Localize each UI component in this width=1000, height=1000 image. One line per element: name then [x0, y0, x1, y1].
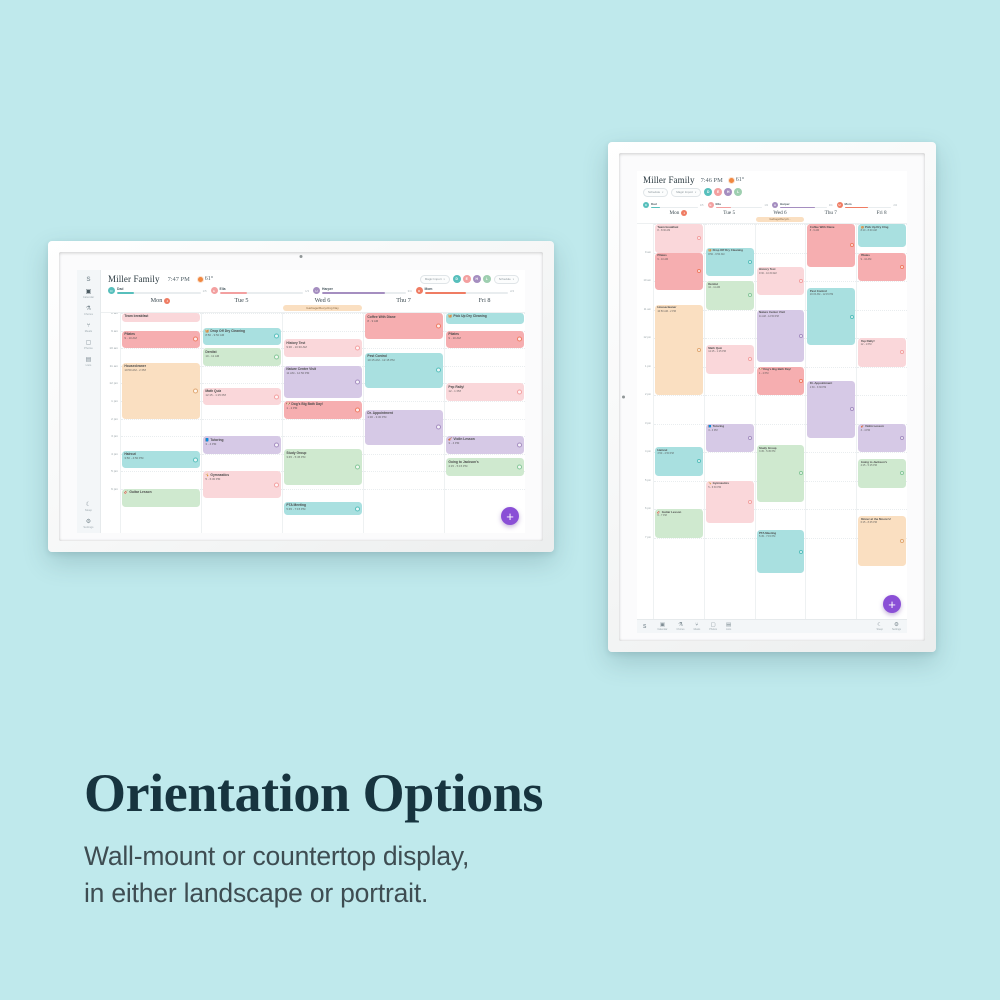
member-name: Dad	[651, 202, 698, 207]
event-time: 5 - 6:30 PM	[708, 486, 751, 489]
event-time: 8:50 - 9:50 AM	[708, 253, 751, 256]
time-label: 6 pm	[111, 487, 118, 491]
grid-hour-line	[705, 224, 755, 225]
calendar-event[interactable]: Math Quiz12:15 - 1:15 PM	[203, 388, 281, 406]
calendar-event[interactable]: Going to Jackson's4:15 - 5:15 PM	[858, 459, 906, 488]
day-header-label: Tue 5	[723, 210, 735, 216]
event-owner-avatar	[748, 500, 752, 504]
member-progress[interactable]: MMom2/4	[837, 202, 902, 209]
member-body: Mom	[425, 287, 509, 294]
calendar-event[interactable]: Coffee With Diane8 - 9 AM	[365, 313, 443, 339]
member-progress[interactable]: DDad1/5	[108, 287, 211, 294]
grid-hour-line	[756, 253, 806, 254]
allday-cell[interactable]	[201, 305, 282, 312]
landscape-device-frame: S ▣ Calendar ⚗ Chores ⑂ Meals	[48, 241, 554, 552]
sidebar-item-label: Photos	[84, 347, 93, 350]
portrait-calendar-grid[interactable]: 8 am9 am10 am11 am12 pm1 pm2 pm3 pm4 pm5…	[637, 224, 907, 619]
sidebar-item-settings[interactable]: ⚙ Settings	[77, 519, 100, 529]
sun-icon	[198, 277, 203, 282]
sidebar-item-label: Chores	[84, 313, 93, 316]
day-header[interactable]: Mon4	[120, 297, 201, 305]
calendar-event[interactable]: 📘 Tutoring3 - 4 PM	[706, 424, 754, 453]
member-progress-fill	[117, 292, 134, 294]
member-body: Dad	[651, 202, 698, 209]
grid-hour-line	[121, 348, 201, 349]
event-time: 10:50 AM - 2 PM	[657, 310, 700, 313]
event-time: 10 - 11 AM	[205, 354, 278, 358]
portrait-day-headers: Mon4Tue 5Wed 6Thu 7Fri 8	[637, 210, 907, 217]
grid-hour-line	[857, 367, 907, 368]
event-owner-avatar	[748, 357, 752, 361]
grid-hour-line	[445, 454, 525, 455]
calendar-event[interactable]: 🎸 Guitar Lesson	[122, 489, 200, 507]
time-label: 5 pm	[111, 469, 118, 473]
grid-hour-line	[806, 481, 856, 482]
event-owner-avatar	[799, 550, 803, 554]
grid-hour-line	[654, 538, 704, 539]
calendar-event[interactable]: 🤸 Gymnastics5 - 6:30 PM	[706, 481, 754, 524]
avatar: H	[772, 202, 778, 208]
landscape-sidebar: S ▣ Calendar ⚗ Chores ⑂ Meals	[77, 270, 101, 533]
time-label: 10 am	[109, 346, 118, 350]
calendar-event[interactable]: Pilates9 - 10 AM	[655, 253, 703, 290]
landscape-time-axis: 8 am9 am10 am11 am12 pm1 pm2 pm3 pm4 pm5…	[101, 313, 120, 533]
event-time: 12:15 - 1:15 PM	[708, 350, 751, 353]
allday-cell[interactable]: Garbage/Recycling Day	[282, 305, 363, 312]
landscape-topbar: Miller Family 7:47 PM 61° Magic Import ▾	[101, 270, 525, 286]
landscape-camera-dot	[300, 255, 303, 258]
grid-hour-line	[121, 471, 201, 472]
allday-cell[interactable]	[856, 217, 907, 223]
weather: 61°	[729, 177, 744, 183]
allday-cell[interactable]	[805, 217, 856, 223]
nav-item-label: Meals	[694, 628, 701, 631]
calendar-event[interactable]: Study Group3:45 - 5:45 PM	[757, 445, 805, 502]
allday-cell[interactable]	[704, 217, 755, 223]
schedule-view-selector[interactable]: Schedule ▾	[494, 275, 519, 284]
landscape-member-progress-row: DDad1/5EElla1/3HHarper3/4MMom2/4	[101, 286, 525, 297]
grid-hour-line	[654, 395, 704, 396]
avatar[interactable]: H	[724, 188, 732, 196]
calendar-event[interactable]: Pest Control10:15 AM - 12:15 PM	[807, 288, 855, 345]
calendar-event[interactable]: History Test9:30 - 10:30 AM	[757, 267, 805, 296]
grid-hour-line	[806, 452, 856, 453]
calendar-event[interactable]: 🎻 Violin Lesson3 - 4 PM	[858, 424, 906, 453]
calendar-event[interactable]: Dr. Appointment1:30 - 3:30 PM	[807, 381, 855, 438]
day-header-label: Fri 8	[479, 297, 491, 304]
day-header[interactable]: Tue 5	[201, 297, 282, 305]
time-label: 12 pm	[644, 336, 651, 339]
magic-import-label: Magic Import	[676, 190, 693, 194]
event-owner-avatar	[274, 442, 279, 447]
calendar-event[interactable]: Going to Jackson's4:15 - 5:15 PM	[446, 458, 524, 476]
avatar-group: D E H L	[704, 188, 742, 196]
grid-hour-line	[283, 419, 363, 420]
sidebar-item-photos[interactable]: ▢ Photos	[77, 340, 100, 350]
photos-icon: ▢	[86, 340, 92, 346]
member-count: 2/4	[510, 289, 514, 294]
landscape-calendar-grid[interactable]: 8 am9 am10 am11 am12 pm1 pm2 pm3 pm4 pm5…	[101, 313, 525, 533]
grid-hour-line	[202, 383, 282, 384]
grid-hour-line	[445, 489, 525, 490]
member-progress-track	[651, 207, 698, 209]
calendar-icon: ▣	[86, 289, 92, 295]
grid-hour-line	[202, 366, 282, 367]
calendar-event[interactable]: Pep Rally!12 - 1 PM	[858, 338, 906, 367]
grid-hour-line	[705, 452, 755, 453]
day-column-fri[interactable]: 🧺 Pick Up Dry CleaningPilates9 - 10 AMPe…	[444, 313, 525, 533]
meals-icon: ⑂	[695, 622, 698, 628]
allday-event[interactable]: Garbage/Recycli...	[756, 217, 805, 222]
schedule-view-selector[interactable]: Schedule ▾	[643, 188, 668, 197]
grid-hour-line	[705, 538, 755, 539]
calendar-event[interactable]: Nature Center Visit11 AM - 12:50 PM	[284, 366, 362, 398]
member-progress[interactable]: HHarper3/4	[313, 287, 416, 294]
day-header[interactable]: Tue 5	[704, 210, 755, 217]
gear-icon: ⚙	[894, 622, 899, 628]
magic-import-button[interactable]: Magic Import ▾	[420, 275, 450, 284]
grid-hour-line	[283, 313, 363, 314]
calendar-event[interactable]: History Test9:30 - 10:30 AM	[284, 339, 362, 357]
event-owner-avatar	[274, 354, 279, 359]
time-label: 9 am	[645, 251, 651, 254]
portrait-screen-bezel: Miller Family 7:46 PM 61° Schedule ▾	[619, 153, 925, 641]
time-label: 9 am	[111, 329, 118, 333]
calendar-event[interactable]: Dentist10 - 11 AM	[706, 281, 754, 310]
portrait-grid-inner: 8 am9 am10 am11 am12 pm1 pm2 pm3 pm4 pm5…	[637, 224, 907, 619]
nav-item-meals[interactable]: ⑂ Meals	[694, 622, 701, 632]
event-time: 10:15 AM - 12:15 PM	[367, 358, 440, 362]
grid-hour-line	[445, 348, 525, 349]
portrait-app: Miller Family 7:46 PM 61° Schedule ▾	[637, 171, 907, 633]
member-progress[interactable]: EElla1/3	[211, 287, 314, 294]
event-owner-avatar	[355, 379, 360, 384]
portrait-topbar: Miller Family 7:46 PM 61° Schedule ▾	[637, 171, 907, 199]
grid-hour-line	[121, 419, 201, 420]
calendar-event[interactable]: Team breakfast	[122, 313, 200, 322]
photos-icon: ▢	[711, 622, 716, 628]
calendar-event[interactable]: Pilates9 - 10 AM	[858, 253, 906, 282]
member-progress-fill	[716, 207, 731, 209]
time-label: 3 pm	[111, 434, 118, 438]
landscape-allday-row: Garbage/Recycling Day	[101, 305, 525, 313]
event-time: 8 - 9 AM	[810, 229, 853, 232]
event-time: 3 - 4 PM	[448, 441, 521, 445]
grid-hour-line	[202, 419, 282, 420]
event-title: Team breakfast	[124, 314, 197, 318]
calendar-event[interactable]: 🐶 Dog's Big Bath Day!1 - 2 PM	[757, 367, 805, 396]
calendar-event[interactable]: 🧺 Pick Up Dry Cleaning	[446, 313, 524, 324]
day-column-tue[interactable]: 🧺 Drop Off Dry Cleaning8:50 - 9:50 AMDen…	[704, 224, 755, 619]
chores-icon: ⚗	[678, 622, 683, 628]
event-time: 1 - 2 PM	[759, 372, 802, 375]
landscape-screen-bezel: S ▣ Calendar ⚗ Chores ⑂ Meals	[59, 252, 543, 541]
calendar-event[interactable]: 🎸 Guitar Lesson6 - 7 PM	[655, 509, 703, 538]
sidebar-item-chores[interactable]: ⚗ Chores	[77, 306, 100, 316]
member-progress[interactable]: EElla1/3	[708, 202, 773, 209]
lists-icon: ▤	[86, 357, 92, 363]
grid-hour-line	[202, 454, 282, 455]
event-owner-avatar	[355, 407, 360, 412]
event-owner-avatar	[436, 368, 441, 373]
calendar-event[interactable]: 🎻 Violin Lesson3 - 4 PM	[446, 436, 524, 454]
landscape-screen: S ▣ Calendar ⚗ Chores ⑂ Meals	[77, 270, 525, 533]
event-time: 3:50 - 4:50 PM	[124, 456, 197, 460]
event-time: 3 - 4 PM	[861, 429, 904, 432]
time-label: 7 pm	[645, 536, 651, 539]
day-header[interactable]: Thu 7	[805, 210, 856, 217]
time-label: 1 pm	[111, 399, 118, 403]
day-header[interactable]: Fri 8	[444, 297, 525, 305]
event-owner-avatar	[697, 459, 701, 463]
member-progress-track	[425, 292, 509, 294]
member-body: Ella	[716, 202, 763, 209]
calendar-event[interactable]: 🧺 Pick Up Dry Clng8:10 - 8:40 AM	[858, 224, 906, 247]
day-column-wed[interactable]: History Test9:30 - 10:30 AMNature Center…	[755, 224, 806, 619]
calendar-event[interactable]: Study Group3:45 - 5:45 PM	[284, 449, 362, 484]
allday-cell[interactable]	[653, 217, 704, 223]
avatar[interactable]: E	[463, 275, 471, 283]
event-time: 12 - 1 PM	[448, 389, 521, 393]
event-time: 4:15 - 5:15 PM	[861, 464, 904, 467]
event-owner-avatar	[748, 293, 752, 297]
event-time: 12 - 1 PM	[861, 343, 904, 346]
calendar-event[interactable]: Haircut3:50 - 4:50 PM	[122, 451, 200, 469]
sidebar-item-lists[interactable]: ▤ Lists	[77, 357, 100, 367]
add-event-fab[interactable]: +	[883, 595, 901, 613]
magic-import-button[interactable]: Magic Import ▾	[671, 188, 701, 197]
portrait-camera-dot	[622, 396, 625, 399]
time-label: 4 pm	[111, 452, 118, 456]
calendar-event[interactable]: Dentist10 - 11 AM	[203, 348, 281, 366]
event-owner-avatar	[850, 315, 854, 319]
schedule-label: Schedule	[648, 190, 660, 194]
event-time: 3 - 4 PM	[205, 442, 278, 446]
temperature: 61°	[736, 177, 744, 183]
nav-item-photos[interactable]: ▢ Photos	[709, 622, 717, 632]
member-progress-fill	[651, 207, 660, 209]
event-time: 12:15 - 1:15 PM	[205, 393, 278, 397]
member-name: Harper	[780, 202, 827, 207]
calendar-event[interactable]: 🧺 Drop Off Dry Cleaning8:50 - 9:50 AM	[706, 248, 754, 277]
grid-hour-line	[756, 224, 806, 225]
portrait-bottom-nav: S ▣ Calendar ⚗ Chores ⑂ Meals	[637, 619, 907, 633]
event-owner-avatar	[697, 348, 701, 352]
calendar-event[interactable]: Pest Control10:15 AM - 12:15 PM	[365, 353, 443, 388]
app-logo[interactable]: S	[643, 624, 646, 630]
event-owner-avatar	[799, 334, 803, 338]
time-label: 11 am	[110, 364, 118, 368]
event-time: 10:50 AM - 2 PM	[124, 368, 197, 372]
event-owner-avatar	[274, 482, 279, 487]
allday-cell[interactable]	[444, 305, 525, 312]
event-time: 8 - 8:30 AM	[657, 229, 700, 232]
calendar-event[interactable]: Pep Rally!12 - 1 PM	[446, 383, 524, 401]
allday-cell[interactable]	[120, 305, 201, 312]
day-header[interactable]: Wed 6	[755, 210, 806, 217]
avatar[interactable]: E	[714, 188, 722, 196]
calendar-event[interactable]: Housecleaner10:50 AM - 2 PM	[655, 305, 703, 395]
event-owner-avatar	[900, 350, 904, 354]
member-progress-fill	[780, 207, 815, 209]
sidebar-item-sleep[interactable]: ☾ Sleep	[77, 502, 100, 512]
member-count: 1/5	[203, 289, 207, 294]
grid-hour-line	[705, 310, 755, 311]
nav-item-calendar[interactable]: ▣ Calendar	[657, 622, 667, 632]
grid-hour-line	[756, 509, 806, 510]
chevron-down-icon: ▾	[513, 278, 514, 281]
day-column-tue[interactable]: 🧺 Drop Off Dry Cleaning8:50 - 9:50 AMDen…	[201, 313, 282, 533]
portrait-member-progress-row: DDad1/5EElla1/3HHarper3/4MMom2/4	[637, 199, 907, 211]
event-time: 8:50 - 9:50 AM	[205, 333, 278, 337]
event-owner-avatar	[517, 464, 522, 469]
day-column-mon[interactable]: Team breakfastPilates9 - 10 AMHouseclean…	[120, 313, 201, 533]
calendar-event[interactable]: 📘 Tutoring3 - 4 PM	[203, 436, 281, 454]
event-owner-avatar	[900, 436, 904, 440]
calendar-event[interactable]: Coffee With Diane8 - 9 AM	[807, 224, 855, 267]
member-count: 1/3	[764, 204, 768, 208]
event-owner-avatar	[355, 506, 360, 511]
day-header-label: Thu 7	[825, 210, 837, 216]
meals-icon: ⑂	[87, 323, 91, 329]
event-owner-avatar	[517, 390, 522, 395]
grid-hour-line	[756, 424, 806, 425]
day-header[interactable]: Fri 8	[856, 210, 907, 217]
calendar-event[interactable]: Math Quiz12:15 - 1:15 PM	[706, 345, 754, 374]
event-title: 🎸 Guitar Lesson	[124, 490, 197, 494]
member-progress-track	[117, 292, 201, 294]
chevron-down-icon: ▾	[662, 191, 663, 194]
event-owner-avatar	[274, 394, 279, 399]
calendar-event[interactable]: PTA Meeting5:45 - 7:15 PM	[284, 502, 362, 515]
calendar-event[interactable]: 🐶 Dog's Big Bath Day!1 - 2 PM	[284, 401, 362, 419]
grid-hour-line	[283, 489, 363, 490]
nav-item-sleep[interactable]: ☾ Sleep	[877, 622, 883, 632]
sidebar-item-meals[interactable]: ⑂ Meals	[77, 323, 100, 333]
calendar-event[interactable]: Housecleaner10:50 AM - 2 PM	[122, 363, 200, 419]
app-logo[interactable]: S	[86, 277, 90, 283]
avatar: M	[837, 202, 843, 208]
day-header[interactable]: Wed 6	[282, 297, 363, 305]
event-owner-avatar	[697, 269, 701, 273]
nav-item-label: Sleep	[877, 628, 883, 631]
calendar-event[interactable]: 🤸 Gymnastics5 - 6:30 PM	[203, 471, 281, 497]
calendar-event[interactable]: Dr. Appointment1:30 - 3:30 PM	[365, 410, 443, 445]
grid-hour-line	[806, 367, 856, 368]
event-owner-avatar	[274, 334, 279, 339]
avatar[interactable]: L	[734, 188, 742, 196]
nav-item-lists[interactable]: ▤ Lists	[726, 622, 731, 632]
member-progress[interactable]: HHarper3/4	[772, 202, 837, 209]
calendar-event[interactable]: Nature Center Visit11 AM - 12:50 PM	[757, 310, 805, 362]
day-column-wed[interactable]: History Test9:30 - 10:30 AMNature Center…	[282, 313, 363, 533]
member-body: Dad	[117, 287, 201, 294]
avatar[interactable]: D	[453, 275, 461, 283]
calendar-event[interactable]: Team breakfast8 - 8:30 AM	[655, 224, 703, 253]
day-header-label: Tue 5	[234, 297, 248, 304]
event-time: 9 - 10 AM	[861, 258, 904, 261]
event-time: 9:30 - 10:30 AM	[759, 272, 802, 275]
family-name: Miller Family	[643, 175, 695, 185]
grid-hour-line	[121, 436, 201, 437]
portrait-controls-row: Schedule ▾ Magic Import ▾ D E H	[643, 188, 901, 197]
event-time: 1:30 - 3:30 PM	[367, 415, 440, 419]
calendar-event[interactable]: Haircut3:50 - 4:50 PM	[655, 447, 703, 476]
calendar-event[interactable]: Dinner at the Moore's!6:15 - 8:45 PM	[858, 516, 906, 566]
time-label: 5 pm	[645, 479, 651, 482]
day-header[interactable]: Mon4	[653, 210, 704, 217]
grid-hour-line	[364, 489, 444, 490]
day-header-label: Wed 6	[773, 210, 786, 216]
portrait-title-row: Miller Family 7:46 PM 61°	[643, 175, 901, 185]
member-count: 3/4	[408, 289, 412, 294]
avatar[interactable]: H	[473, 275, 481, 283]
day-event-count-badge: 4	[681, 210, 687, 216]
event-time: 3:45 - 5:45 PM	[759, 450, 802, 453]
allday-cell[interactable]: Garbage/Recycli...	[755, 217, 806, 223]
calendar-event[interactable]: Pilates9 - 10 AM	[446, 331, 524, 349]
portrait-screen: Miller Family 7:46 PM 61° Schedule ▾	[637, 171, 907, 633]
sidebar-item-label: Settings	[83, 526, 93, 529]
day-column-fri[interactable]: 🧺 Pick Up Dry Clng8:10 - 8:40 AMPilates9…	[856, 224, 907, 619]
calendar-event[interactable]: PTA Meeting5:45 - 7:15 PM	[757, 530, 805, 573]
calendar-event[interactable]: Pilates9 - 10 AM	[122, 331, 200, 349]
sidebar-item-label: Calendar	[83, 296, 94, 299]
event-owner-avatar	[900, 265, 904, 269]
nav-item-chores[interactable]: ⚗ Chores	[677, 622, 685, 632]
calendar-icon: ▣	[660, 622, 665, 628]
day-header[interactable]: Thu 7	[363, 297, 444, 305]
member-name: Ella	[716, 202, 763, 207]
avatar[interactable]: L	[483, 275, 491, 283]
member-progress[interactable]: MMom2/4	[416, 287, 519, 294]
grid-hour-line	[857, 281, 907, 282]
allday-cell[interactable]	[363, 305, 444, 312]
grid-hour-line	[445, 366, 525, 367]
sidebar-item-label: Sleep	[85, 509, 92, 512]
member-progress[interactable]: DDad1/5	[643, 202, 708, 209]
day-header-label: Thu 7	[396, 297, 411, 304]
portrait-time-axis: 8 am9 am10 am11 am12 pm1 pm2 pm3 pm4 pm5…	[637, 224, 653, 619]
chevron-down-icon: ▾	[444, 278, 445, 281]
landscape-topbar-actions: Magic Import ▾ D E H L S	[420, 275, 519, 284]
event-time: 9:30 - 10:30 AM	[286, 345, 359, 349]
member-progress-track	[220, 292, 304, 294]
sidebar-item-calendar[interactable]: ▣ Calendar	[77, 289, 100, 299]
portrait-device-frame: Miller Family 7:46 PM 61° Schedule ▾	[608, 142, 936, 652]
sun-icon	[729, 178, 734, 183]
chores-icon: ⚗	[86, 306, 91, 312]
day-column-thu[interactable]: Coffee With Diane8 - 9 AMPest Control10:…	[363, 313, 444, 533]
day-column-mon[interactable]: Team breakfast8 - 8:30 AMPilates9 - 10 A…	[653, 224, 704, 619]
calendar-event[interactable]: 🧺 Drop Off Dry Cleaning8:50 - 9:50 AM	[203, 328, 281, 346]
sidebar-item-label: Meals	[85, 330, 92, 333]
day-event-count-badge: 4	[164, 298, 170, 304]
avatar[interactable]: D	[704, 188, 712, 196]
day-column-thu[interactable]: Coffee With Diane8 - 9 AMPest Control10:…	[805, 224, 856, 619]
add-event-fab[interactable]: +	[501, 507, 519, 525]
grid-hour-line	[283, 436, 363, 437]
time-label: 11 am	[644, 308, 651, 311]
event-time: 8 - 9 AM	[367, 319, 440, 323]
nav-item-settings[interactable]: ⚙ Settings	[892, 622, 901, 632]
allday-event[interactable]: Garbage/Recycling Day	[283, 305, 362, 311]
member-progress-fill	[425, 292, 467, 294]
event-time: 9 - 10 AM	[448, 336, 521, 340]
event-owner-avatar	[436, 324, 441, 329]
grid-hour-line	[445, 401, 525, 402]
landscape-main: Miller Family 7:47 PM 61° Magic Import ▾	[101, 270, 525, 533]
